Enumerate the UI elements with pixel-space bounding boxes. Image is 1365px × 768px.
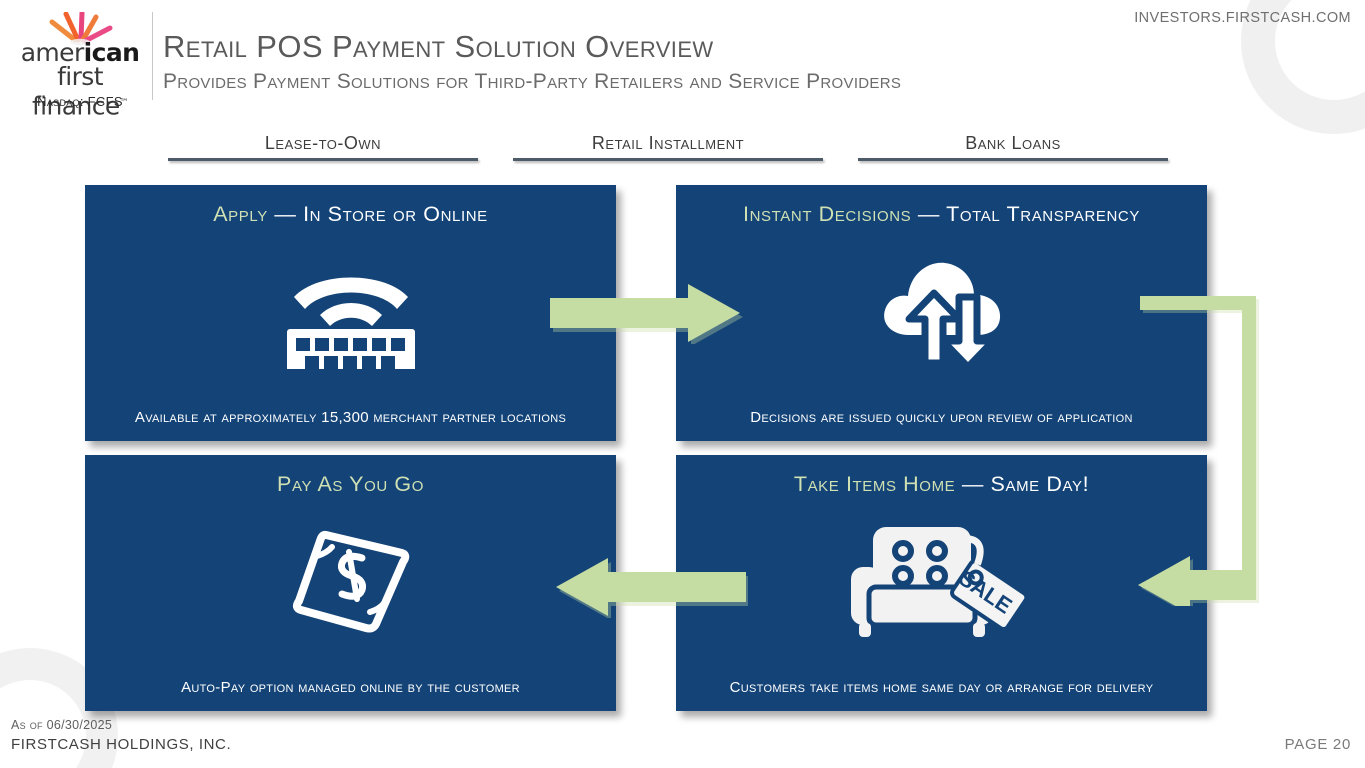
column-header-label: Retail Installment (513, 133, 823, 153)
dollar-bill-icon (290, 523, 412, 642)
card-title-separator: — (955, 472, 990, 496)
investors-url-label: INVESTORS.FIRSTCASH.COM (1134, 10, 1351, 26)
card-take-items-home: Take Items Home — Same Day! (676, 455, 1207, 711)
card-title-accent: Take Items Home (794, 472, 955, 496)
armchair-sale-tag-icon: SALE (847, 523, 1037, 646)
page-title: Retail POS Payment Solution Overview (163, 30, 714, 64)
card-caption: Decisions are issued quickly upon review… (676, 409, 1207, 427)
card-caption: Available at approximately 15,300 mercha… (85, 409, 616, 427)
column-header-label: Bank Loans (858, 133, 1168, 153)
card-title: Instant Decisions — Total Transparency (676, 202, 1207, 226)
card-title-accent: Apply (213, 202, 268, 226)
cloud-upload-download-icon (879, 253, 1005, 374)
as-of-date-label: As of 06/30/2025 (11, 718, 112, 732)
column-header-rule (513, 158, 823, 161)
page-number-label: PAGE 20 (1285, 736, 1351, 753)
card-title-rest: Same Day! (991, 472, 1090, 496)
column-header-label: Lease-to-Own (168, 133, 478, 153)
card-pay-as-you-go: Pay As You Go Auto-Pay option managed on… (85, 455, 616, 711)
wireless-keyboard-icon (284, 253, 418, 374)
card-title: Take Items Home — Same Day! (676, 472, 1207, 496)
logo-word-first-finance-text: first finance (32, 62, 120, 120)
slide-footer: As of 06/30/2025 FIRSTCASH HOLDINGS, INC… (0, 712, 1365, 768)
header-divider (152, 12, 153, 100)
column-header-rule (168, 158, 478, 161)
column-header-bank-loans: Bank Loans (858, 133, 1168, 161)
card-title-separator: — (911, 202, 946, 226)
column-header-rule (858, 158, 1168, 161)
ticker-label: Nasdaq: FCFS (14, 94, 146, 109)
slide-header: american first finance™ Nasdaq: FCFS Ret… (0, 0, 1365, 118)
card-title-rest: Total Transparency (946, 202, 1140, 226)
american-first-finance-logo: american first finance™ Nasdaq: FCFS (14, 12, 144, 108)
card-instant-decisions: Instant Decisions — Total Transparency D… (676, 185, 1207, 441)
logo-word-first-finance: first finance™ (14, 64, 146, 119)
column-header-retail-installment: Retail Installment (513, 133, 823, 161)
company-name-label: FIRSTCASH HOLDINGS, INC. (11, 736, 231, 753)
column-header-lease-to-own: Lease-to-Own (168, 133, 478, 161)
card-title-rest: In Store or Online (303, 202, 488, 226)
slide-root: american first finance™ Nasdaq: FCFS Ret… (0, 0, 1365, 768)
card-apply: Apply — In Store or Online (85, 185, 616, 441)
card-title-accent: Pay As You Go (277, 472, 424, 496)
card-caption: Auto-Pay option managed online by the cu… (85, 679, 616, 697)
card-title: Apply — In Store or Online (85, 202, 616, 226)
card-title-accent: Instant Decisions (743, 202, 911, 226)
card-title: Pay As You Go (85, 472, 616, 496)
page-subtitle: Provides Payment Solutions for Third-Par… (163, 70, 901, 94)
card-title-separator: — (268, 202, 303, 226)
card-caption: Customers take items home same day or ar… (676, 679, 1207, 697)
